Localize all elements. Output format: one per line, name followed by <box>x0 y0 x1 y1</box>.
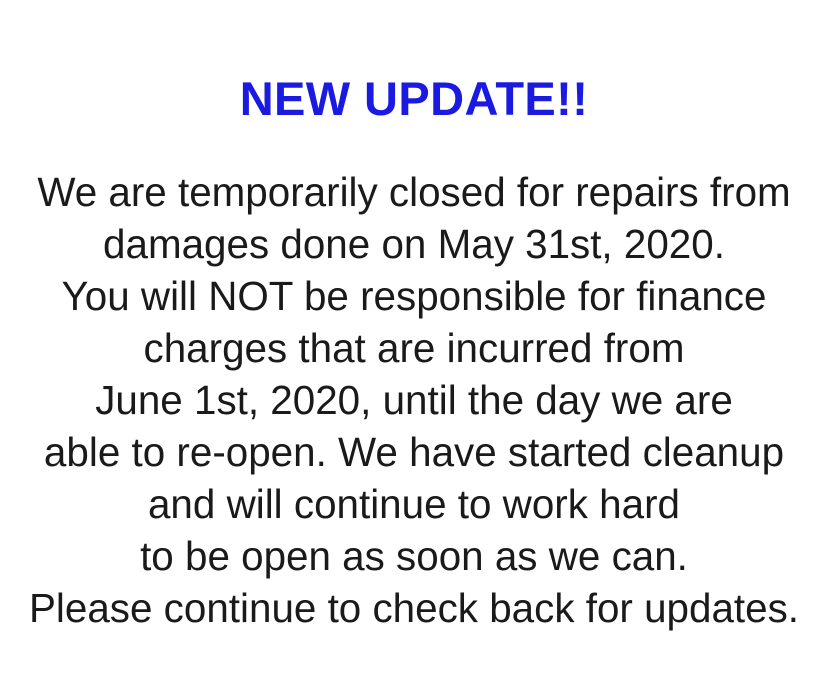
announcement-heading: NEW UPDATE!! <box>0 73 828 125</box>
announcement-line-1: We are temporarily closed for repairs fr… <box>6 166 822 218</box>
announcement-line-5: June 1st, 2020, until the day we are <box>6 374 822 426</box>
announcement-body: We are temporarily closed for repairs fr… <box>0 166 828 634</box>
announcement-content: NEW UPDATE!! We are temporarily closed f… <box>0 0 828 681</box>
announcement-line-3: You will NOT be responsible for finance <box>6 270 822 322</box>
announcement-canvas: NEW UPDATE!! We are temporarily closed f… <box>0 0 828 681</box>
announcement-line-9: Please continue to check back for update… <box>6 582 822 634</box>
announcement-line-6: able to re-open. We have started cleanup <box>6 426 822 478</box>
announcement-line-2: damages done on May 31st, 2020. <box>6 218 822 270</box>
announcement-line-8: to be open as soon as we can. <box>6 530 822 582</box>
announcement-line-7: and will continue to work hard <box>6 478 822 530</box>
announcement-line-4: charges that are incurred from <box>6 322 822 374</box>
